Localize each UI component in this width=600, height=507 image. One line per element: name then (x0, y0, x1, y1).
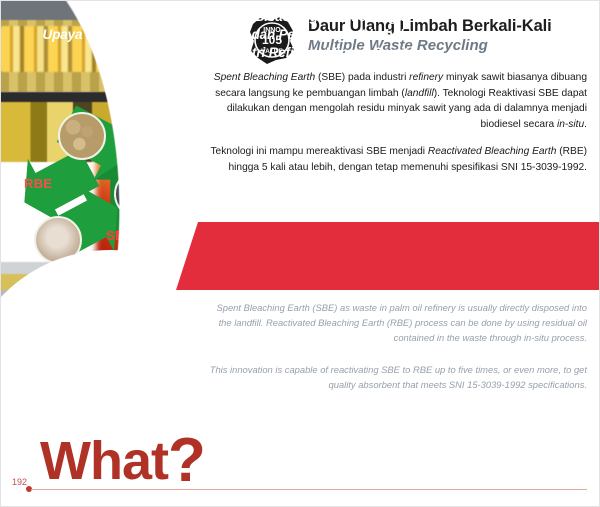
diagram-label-rbe: RBE (24, 176, 52, 191)
diagram-label-fbe: FBE (123, 130, 150, 145)
banner-heading: Teknologi Reaktivasi Bleaching Earth seb… (34, 8, 408, 63)
sbe-material-photo (114, 170, 162, 218)
english-paragraph-2: This innovation is capable of reactivati… (205, 362, 587, 392)
fbe-material-photo (58, 112, 106, 160)
page-number: 192 (12, 477, 27, 487)
recycling-diagram: FBE RBE SBE (18, 104, 198, 244)
banner-line-1: Teknologi Reaktivasi Bleaching Earth seb… (34, 8, 408, 26)
footer-rule (31, 489, 587, 490)
red-banner (176, 222, 600, 290)
question-mark: ? (168, 426, 205, 495)
banner-line-3: Industri Refinery Minyak Sawit (34, 44, 408, 62)
indonesian-paragraph-2: Teknologi ini mampu mereaktivasi SBE men… (205, 144, 587, 175)
diagram-label-sbe: SBE (106, 228, 134, 243)
poster-page: FBE RBE SBE INNO 105 VALUE Daur Ulang Li… (0, 0, 600, 507)
english-paragraph-1: Spent Bleaching Earth (SBE) as waste in … (205, 300, 587, 346)
indonesian-paragraph-1: Spent Bleaching Earth (SBE) pada industr… (205, 70, 587, 132)
banner-line-2: Upaya Efisiensi Bahan Penolong dan Penan… (34, 26, 408, 44)
indonesian-body: Spent Bleaching Earth (SBE) pada industr… (205, 70, 587, 187)
section-heading-what: What? (40, 430, 205, 492)
english-body: Spent Bleaching Earth (SBE) as waste in … (205, 300, 587, 408)
what-word: What (40, 431, 168, 491)
